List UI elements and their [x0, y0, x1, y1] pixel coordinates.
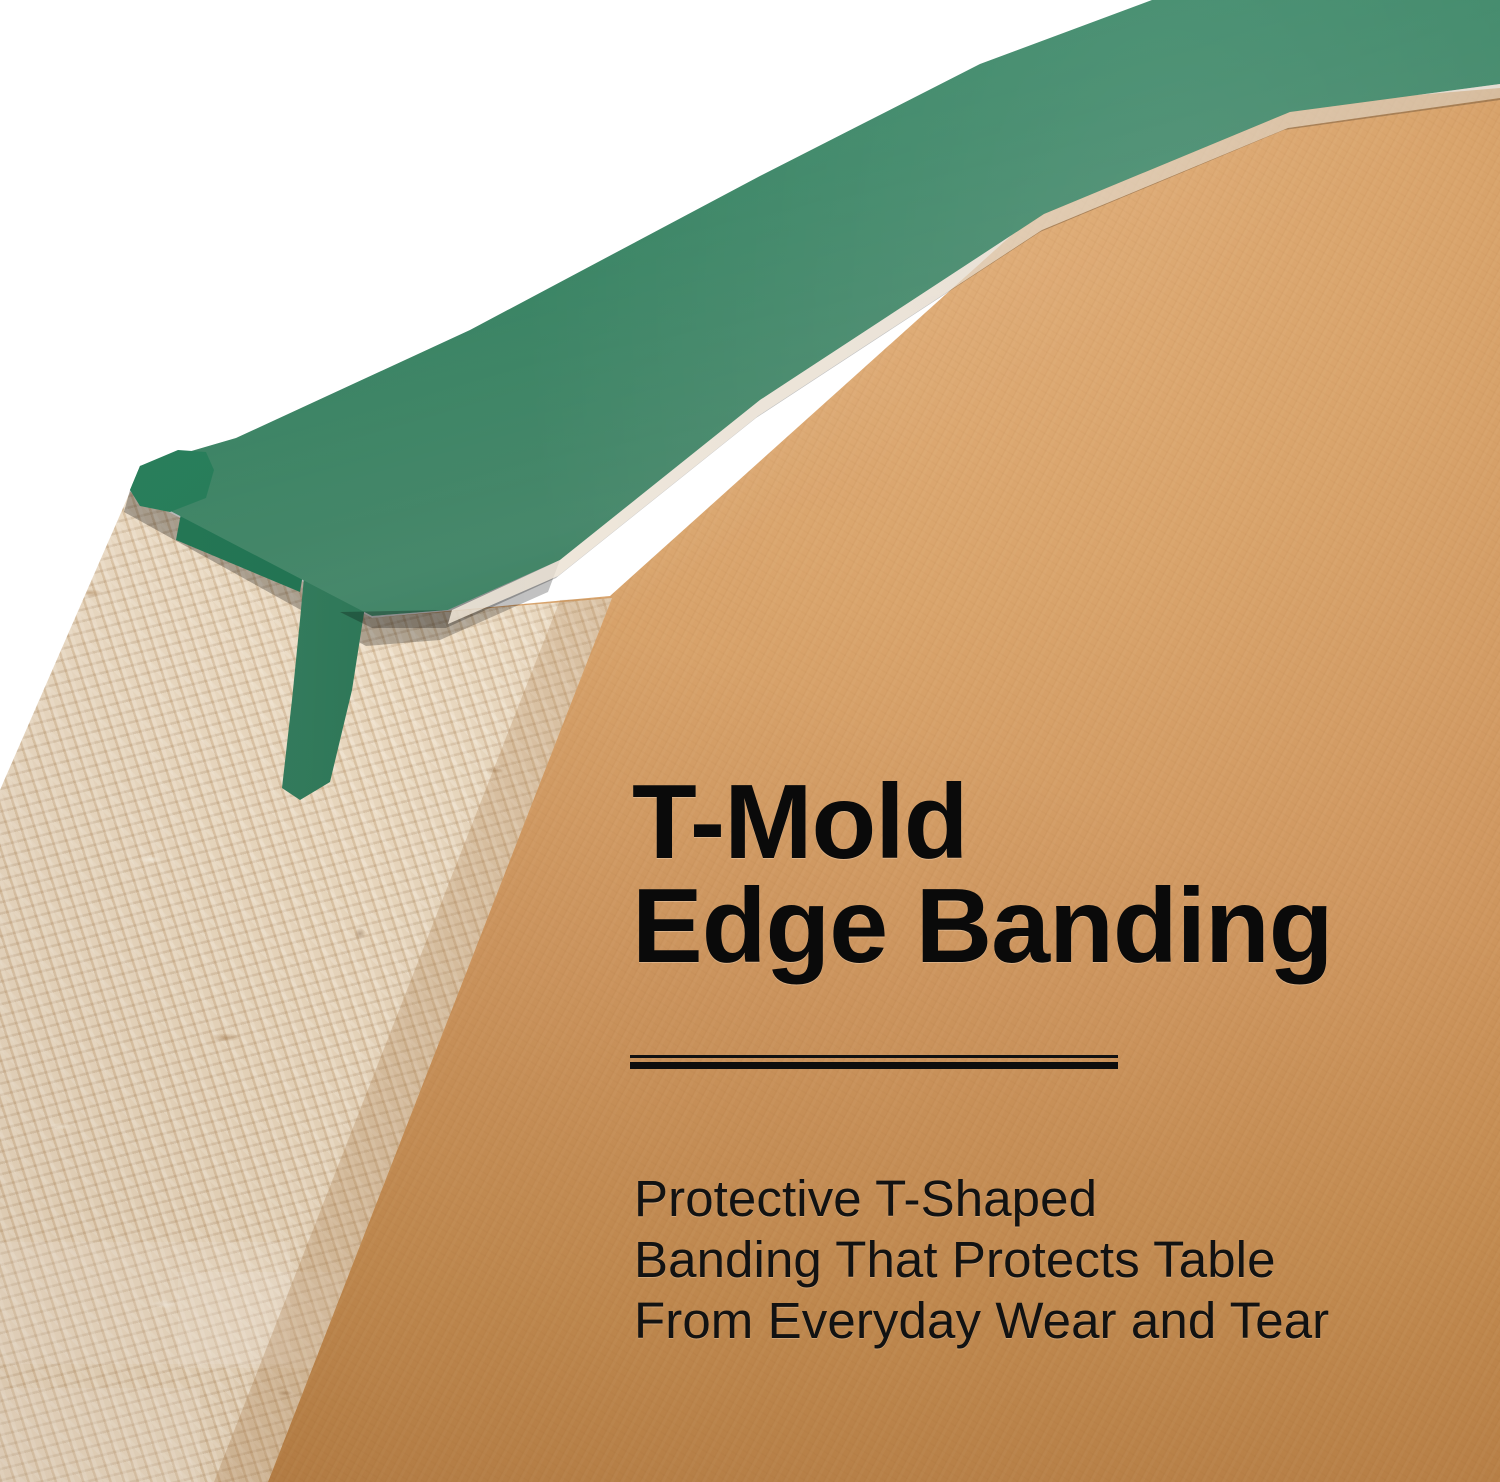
divider-thick-line	[630, 1062, 1118, 1069]
product-feature-image: T-Mold Edge Banding Protective T-Shaped …	[0, 0, 1500, 1482]
headline-block: T-Mold Edge Banding	[632, 770, 1432, 978]
body-text: Protective T-Shaped Banding That Protect…	[634, 1168, 1434, 1351]
divider-rule	[630, 1055, 1118, 1069]
headline-text: T-Mold Edge Banding	[632, 770, 1432, 978]
